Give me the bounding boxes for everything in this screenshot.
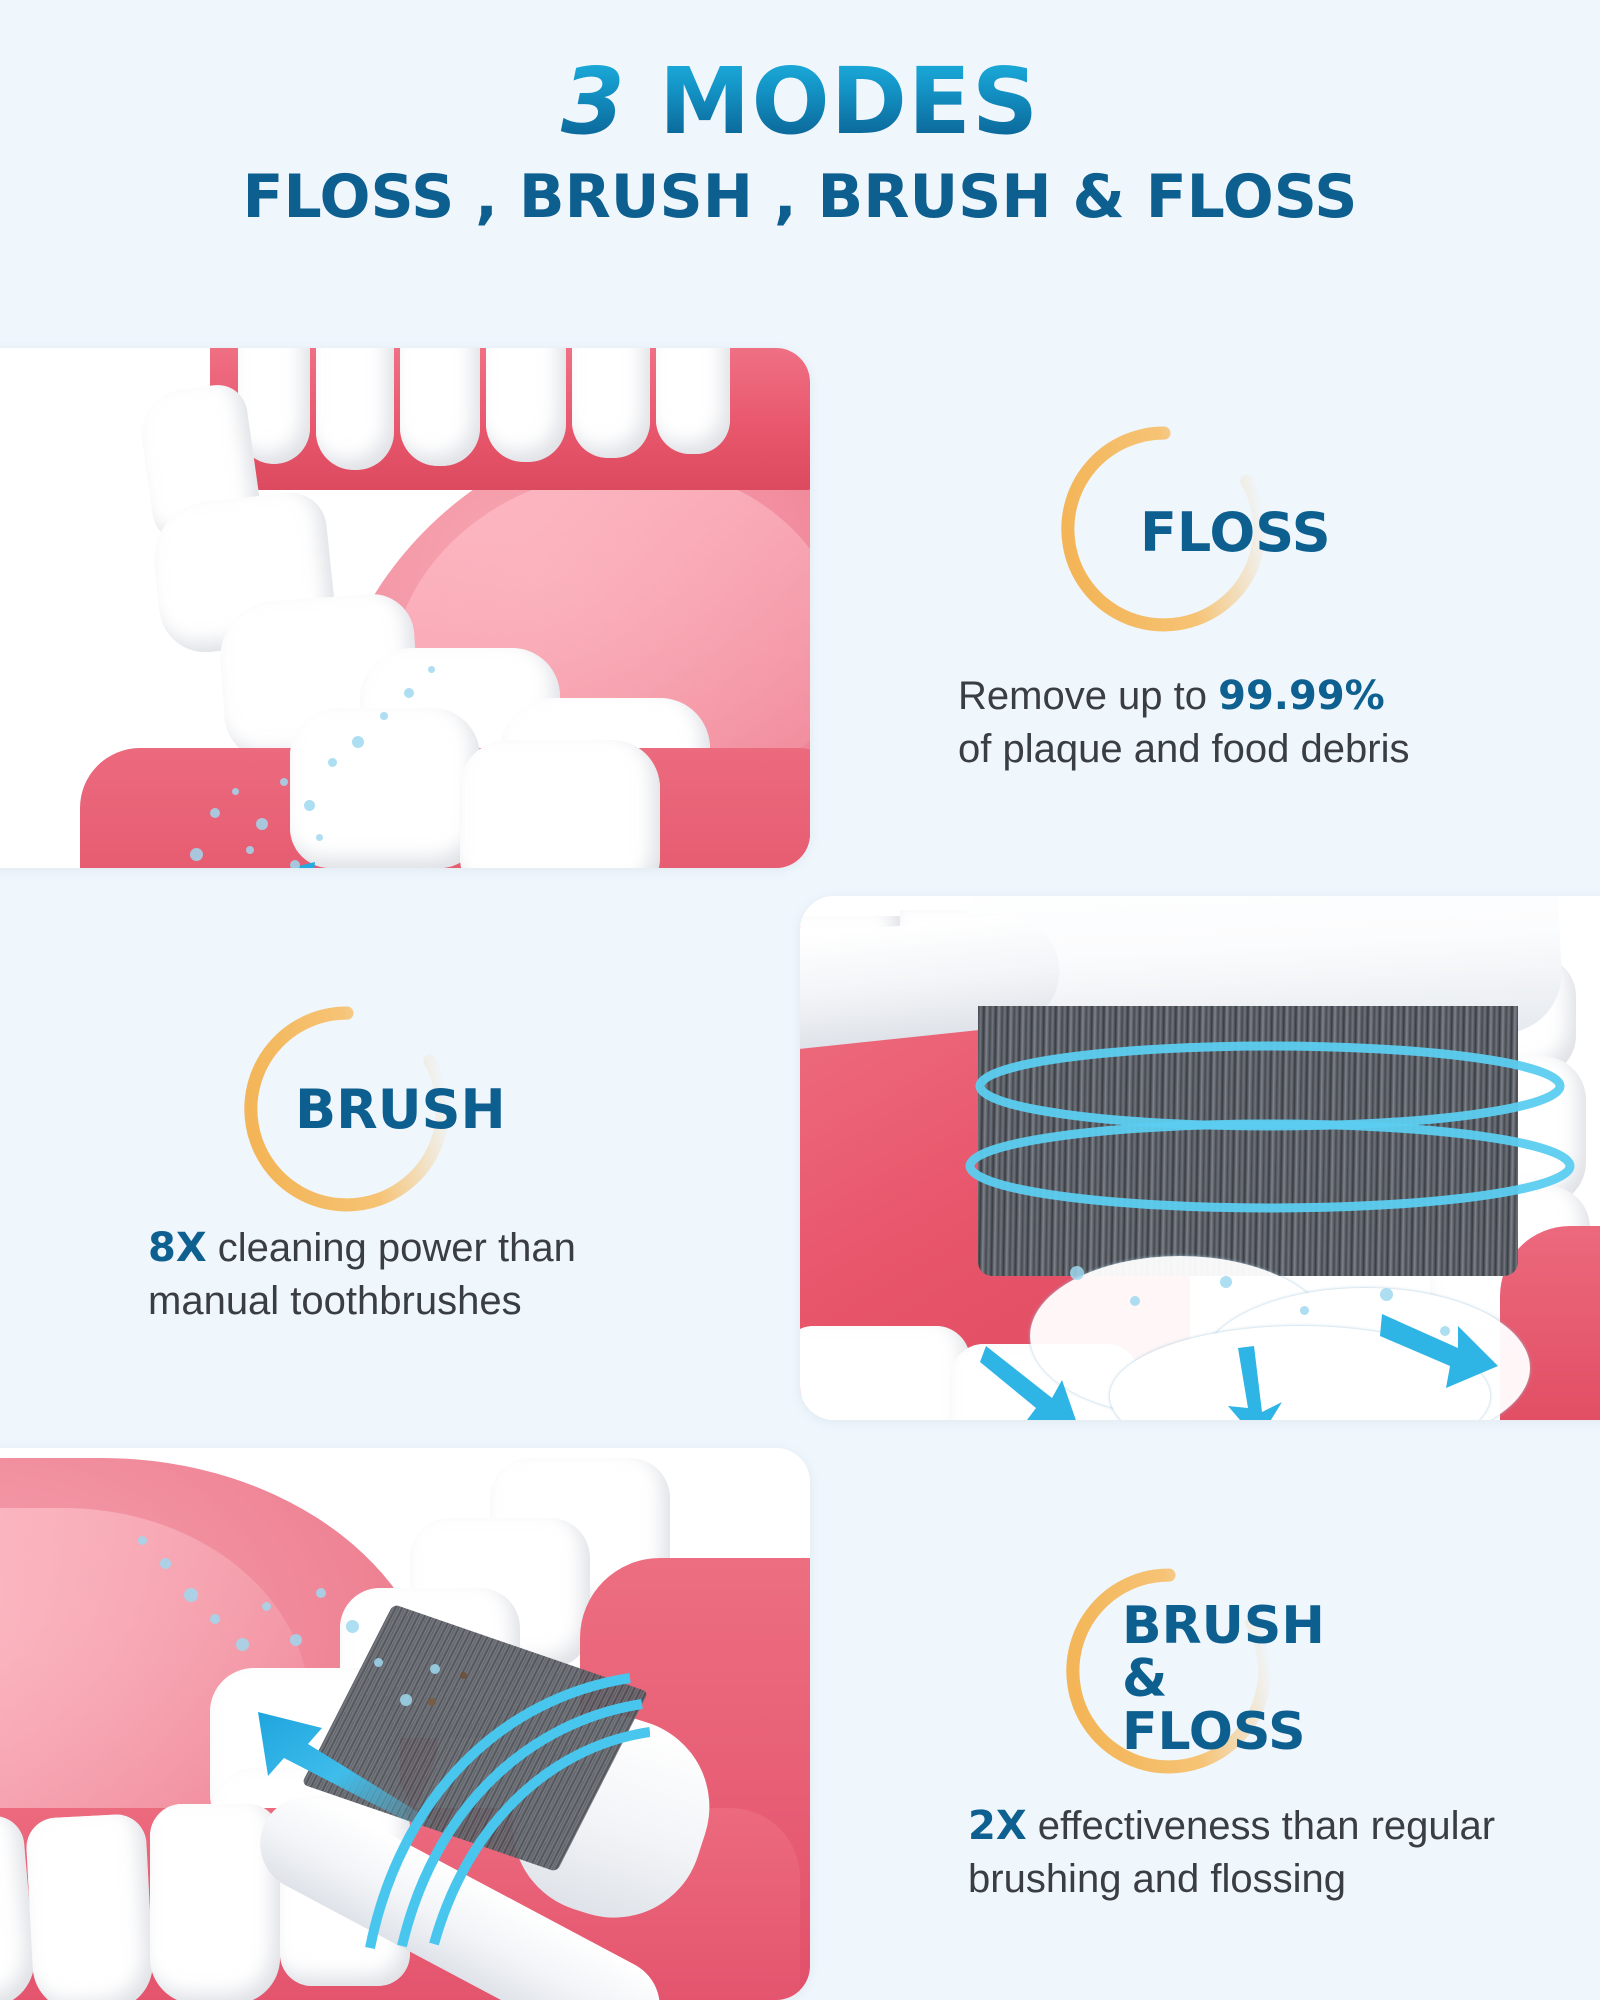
floss-badge-label: FLOSS: [1140, 505, 1331, 560]
tooth: [25, 1813, 155, 2000]
brush-and-floss-badge-label: BRUSH & FLOSS: [1122, 1600, 1325, 1759]
brush-description: 8X cleaning power than manual toothbrush…: [148, 1222, 576, 1328]
brush-floss-scene: [0, 1448, 810, 2000]
water-particle: [236, 1638, 249, 1651]
tooth: [400, 348, 480, 466]
water-particle: [184, 1588, 198, 1602]
floss-desc-highlight: 99.99%: [1218, 673, 1385, 719]
debris-particle: [428, 1698, 436, 1706]
page-subtitle: FLOSS , BRUSH , BRUSH & FLOSS: [0, 162, 1600, 232]
floss-description: Remove up to 99.99% of plaque and food d…: [958, 670, 1409, 776]
floss-desc-suffix: of plaque and food debris: [958, 727, 1409, 771]
water-particle: [428, 666, 435, 673]
water-particle: [316, 1588, 326, 1598]
brush-and-floss-description: 2X effectiveness than regular brushing a…: [968, 1800, 1495, 1906]
water-particle: [210, 1614, 220, 1624]
bf-desc-highlight: 2X: [968, 1803, 1027, 1849]
water-particle: [280, 778, 288, 786]
water-particle: [1220, 1276, 1232, 1288]
water-particle: [232, 788, 239, 795]
water-particle: [256, 818, 268, 830]
title-number: 3: [561, 48, 626, 155]
tooth: [800, 1326, 970, 1420]
direction-arrow-icon: [250, 1698, 440, 1828]
water-particle: [400, 1694, 412, 1706]
direction-arrow-icon: [1380, 1296, 1500, 1396]
water-particle: [346, 1620, 359, 1633]
direction-arrow-icon: [980, 1336, 1090, 1420]
water-particle: [430, 1664, 440, 1674]
header: 3 MODES FLOSS , BRUSH , BRUSH & FLOSS: [0, 0, 1600, 300]
brush-desc-highlight: 8X: [148, 1225, 207, 1271]
tooth: [486, 348, 566, 462]
floss-scene: [0, 348, 810, 868]
water-particle: [328, 758, 337, 767]
tooth: [572, 348, 650, 458]
water-particle: [246, 846, 254, 854]
water-particle: [1070, 1266, 1084, 1280]
infographic-page: 3 MODES FLOSS , BRUSH , BRUSH & FLOSS: [0, 0, 1600, 2000]
water-particle: [190, 848, 203, 861]
brush-scene: [800, 896, 1600, 1420]
tooth: [656, 348, 730, 454]
water-particle: [316, 834, 323, 841]
water-particle: [1300, 1306, 1309, 1315]
title-word: MODES: [659, 48, 1039, 155]
page-title: 3 MODES: [0, 0, 1600, 148]
tooth: [290, 708, 480, 868]
water-particle: [290, 860, 300, 868]
bf-desc-suffix: effectiveness than regular brushing and …: [968, 1804, 1495, 1901]
water-particle: [374, 1658, 383, 1667]
water-particle: [138, 1536, 147, 1545]
water-particle: [290, 1634, 302, 1646]
brush-mode-photo: [800, 896, 1600, 1420]
tooth: [460, 740, 660, 868]
water-particle: [404, 688, 414, 698]
brush-desc-suffix: cleaning power than manual toothbrushes: [148, 1226, 576, 1323]
debris-particle: [460, 1672, 467, 1679]
water-particle: [210, 808, 220, 818]
water-particle: [1130, 1296, 1140, 1306]
direction-arrow-icon: [110, 848, 340, 868]
water-particle: [352, 736, 364, 748]
water-particle: [160, 1558, 171, 1569]
water-particle: [380, 712, 388, 720]
brush-badge-label: BRUSH: [295, 1082, 506, 1137]
direction-arrow-icon: [1220, 1346, 1310, 1420]
floss-mode-photo: [0, 348, 810, 868]
water-particle: [304, 800, 315, 811]
floss-desc-prefix: Remove up to: [958, 674, 1218, 718]
brush-and-floss-mode-photo: [0, 1448, 810, 2000]
tooth: [316, 348, 394, 470]
motion-swirl-icon: [920, 1016, 1600, 1276]
water-particle: [262, 1602, 271, 1611]
